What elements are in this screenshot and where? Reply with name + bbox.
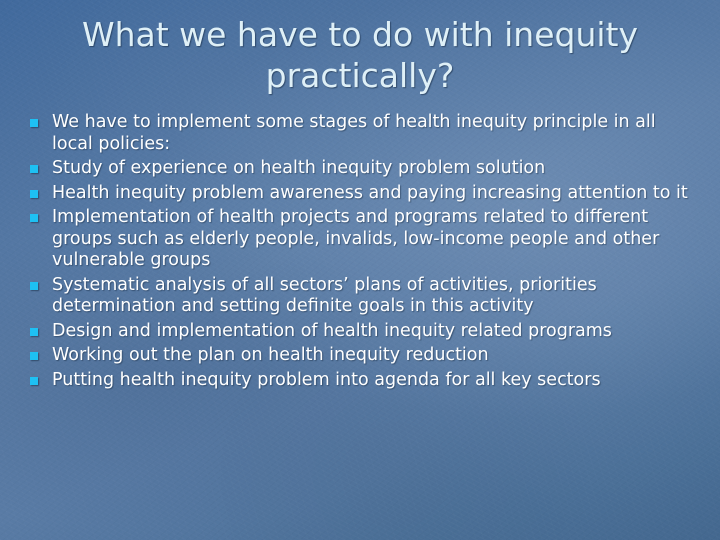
square-bullet-icon xyxy=(30,377,38,385)
bullet-list-item: Systematic analysis of all sectors’ plan… xyxy=(22,275,692,318)
bullet-list-item: Implementation of health projects and pr… xyxy=(22,207,692,272)
slide-body-bullet-list: We have to implement some stages of heal… xyxy=(22,112,692,394)
bullet-list-item-text: Working out the plan on health inequity … xyxy=(52,345,692,367)
bullet-list-item-text: Putting health inequity problem into age… xyxy=(52,370,692,392)
bullet-list-item: We have to implement some stages of heal… xyxy=(22,112,692,155)
bullet-list-item: Study of experience on health inequity p… xyxy=(22,158,692,180)
bullet-list-item-text: Study of experience on health inequity p… xyxy=(52,158,692,180)
bullet-list-item-text: Health inequity problem awareness and pa… xyxy=(52,183,692,205)
bullet-list-item-text: We have to implement some stages of heal… xyxy=(52,112,692,155)
square-bullet-icon xyxy=(30,165,38,173)
square-bullet-icon xyxy=(30,190,38,198)
square-bullet-icon xyxy=(30,352,38,360)
square-bullet-icon xyxy=(30,328,38,336)
presentation-slide: What we have to do with inequity practic… xyxy=(0,0,720,540)
bullet-list-item: Putting health inequity problem into age… xyxy=(22,370,692,392)
bullet-list-item-text: Design and implementation of health ineq… xyxy=(52,321,692,343)
slide-title: What we have to do with inequity practic… xyxy=(24,14,696,96)
bullet-list-item: Health inequity problem awareness and pa… xyxy=(22,183,692,205)
bullet-list-item-text: Systematic analysis of all sectors’ plan… xyxy=(52,275,692,318)
bullet-list-item: Design and implementation of health ineq… xyxy=(22,321,692,343)
square-bullet-icon xyxy=(30,214,38,222)
square-bullet-icon xyxy=(30,282,38,290)
bullet-list-item-text: Implementation of health projects and pr… xyxy=(52,207,692,272)
bullet-list-item: Working out the plan on health inequity … xyxy=(22,345,692,367)
square-bullet-icon xyxy=(30,119,38,127)
